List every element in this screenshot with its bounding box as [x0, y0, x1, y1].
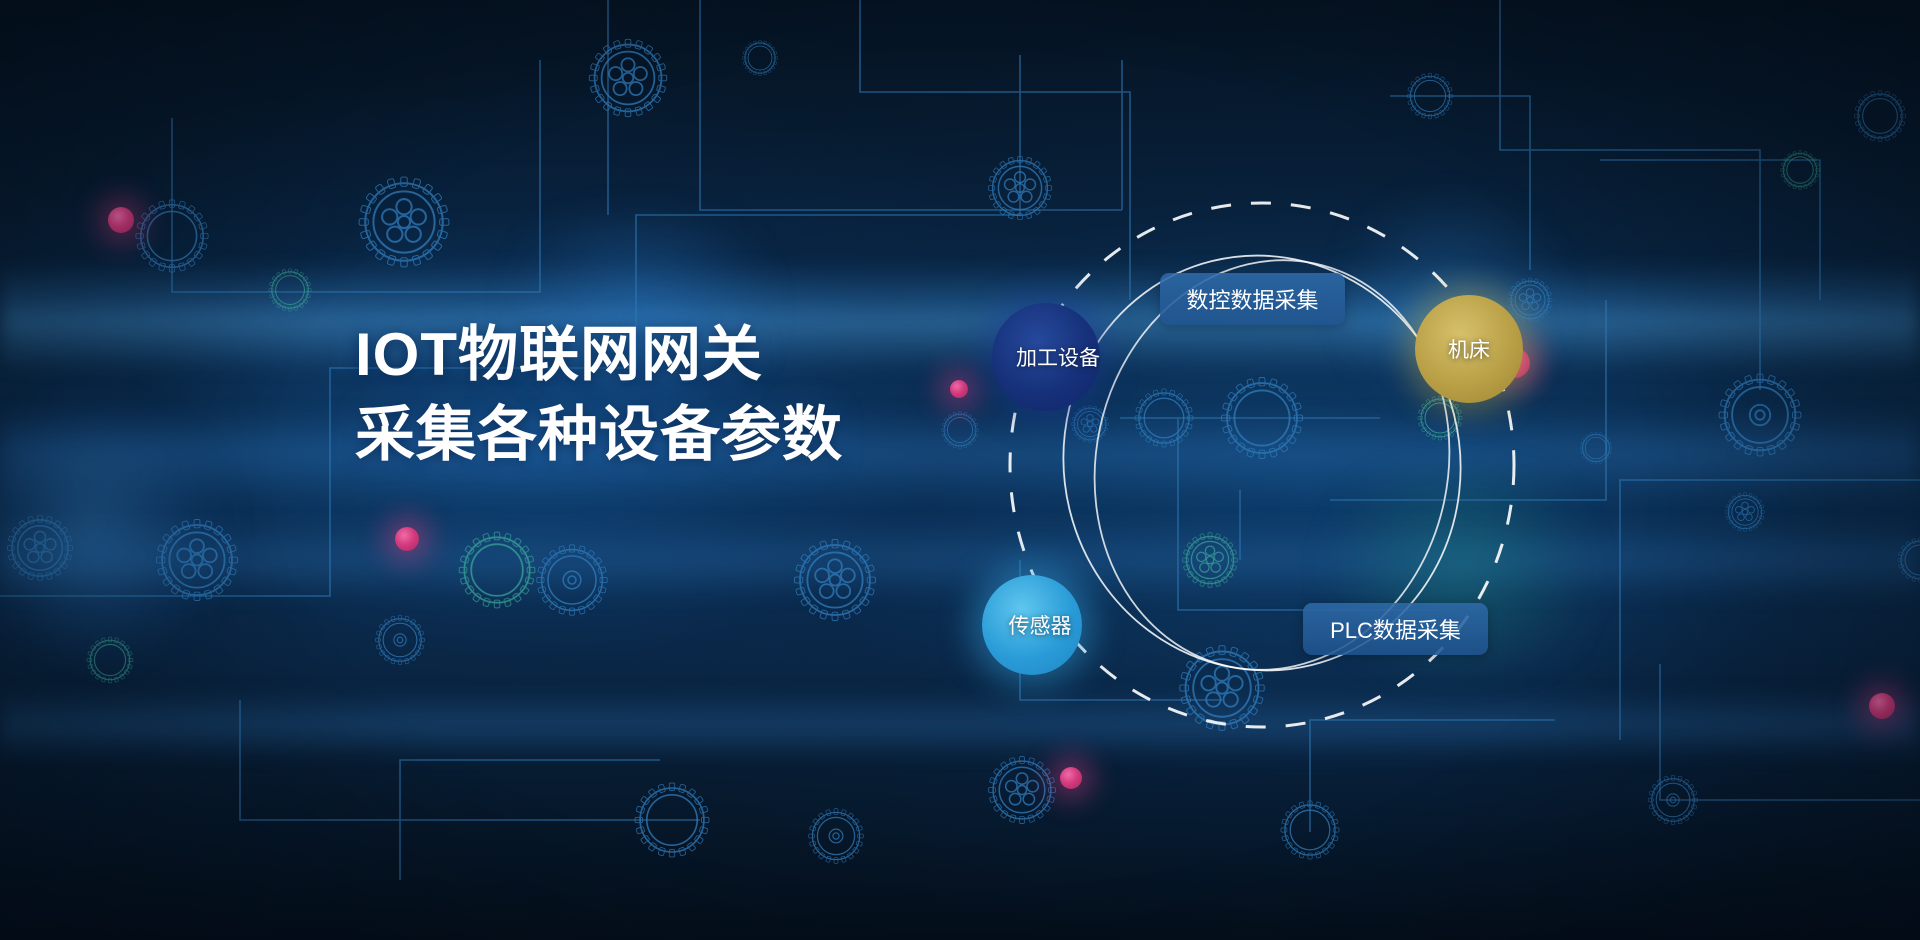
label-plc-data-collection-text: PLC数据采集 [1330, 613, 1461, 645]
glow-dot [1869, 693, 1895, 719]
label-cnc-data-collection[interactable]: 数控数据采集 [1160, 273, 1345, 325]
orbit-rings [990, 175, 1550, 755]
label-cnc-data-collection-text: 数控数据采集 [1186, 283, 1318, 315]
iot-gateway-banner: IOT物联网网关 采集各种设备参数 加工设备 机床 传感器 数控数据采集 PLC… [0, 0, 1920, 940]
headline-line-2: 采集各种设备参数 [355, 395, 843, 475]
glow-dot [950, 380, 968, 398]
node-machine-tool[interactable]: 机床 [1415, 295, 1523, 403]
node-processing-equipment[interactable]: 加工设备 [992, 303, 1100, 411]
circuit-gear-layer [0, 0, 1920, 940]
glow-dot [395, 527, 419, 551]
page-title: IOT物联网网关 采集各种设备参数 [355, 315, 843, 476]
glow-dot [108, 207, 134, 233]
headline-line-1: IOT物联网网关 [355, 315, 843, 395]
node-sensor-label: 传感器 [1009, 610, 1072, 640]
glow-dot [1060, 767, 1082, 789]
node-processing-equipment-label: 加工设备 [1016, 342, 1100, 372]
node-machine-tool-label: 机床 [1448, 334, 1490, 364]
node-sensor[interactable]: 传感器 [982, 575, 1082, 675]
iot-orbit-diagram: 加工设备 机床 传感器 数控数据采集 PLC数据采集 [990, 175, 1550, 755]
label-plc-data-collection[interactable]: PLC数据采集 [1303, 603, 1488, 655]
